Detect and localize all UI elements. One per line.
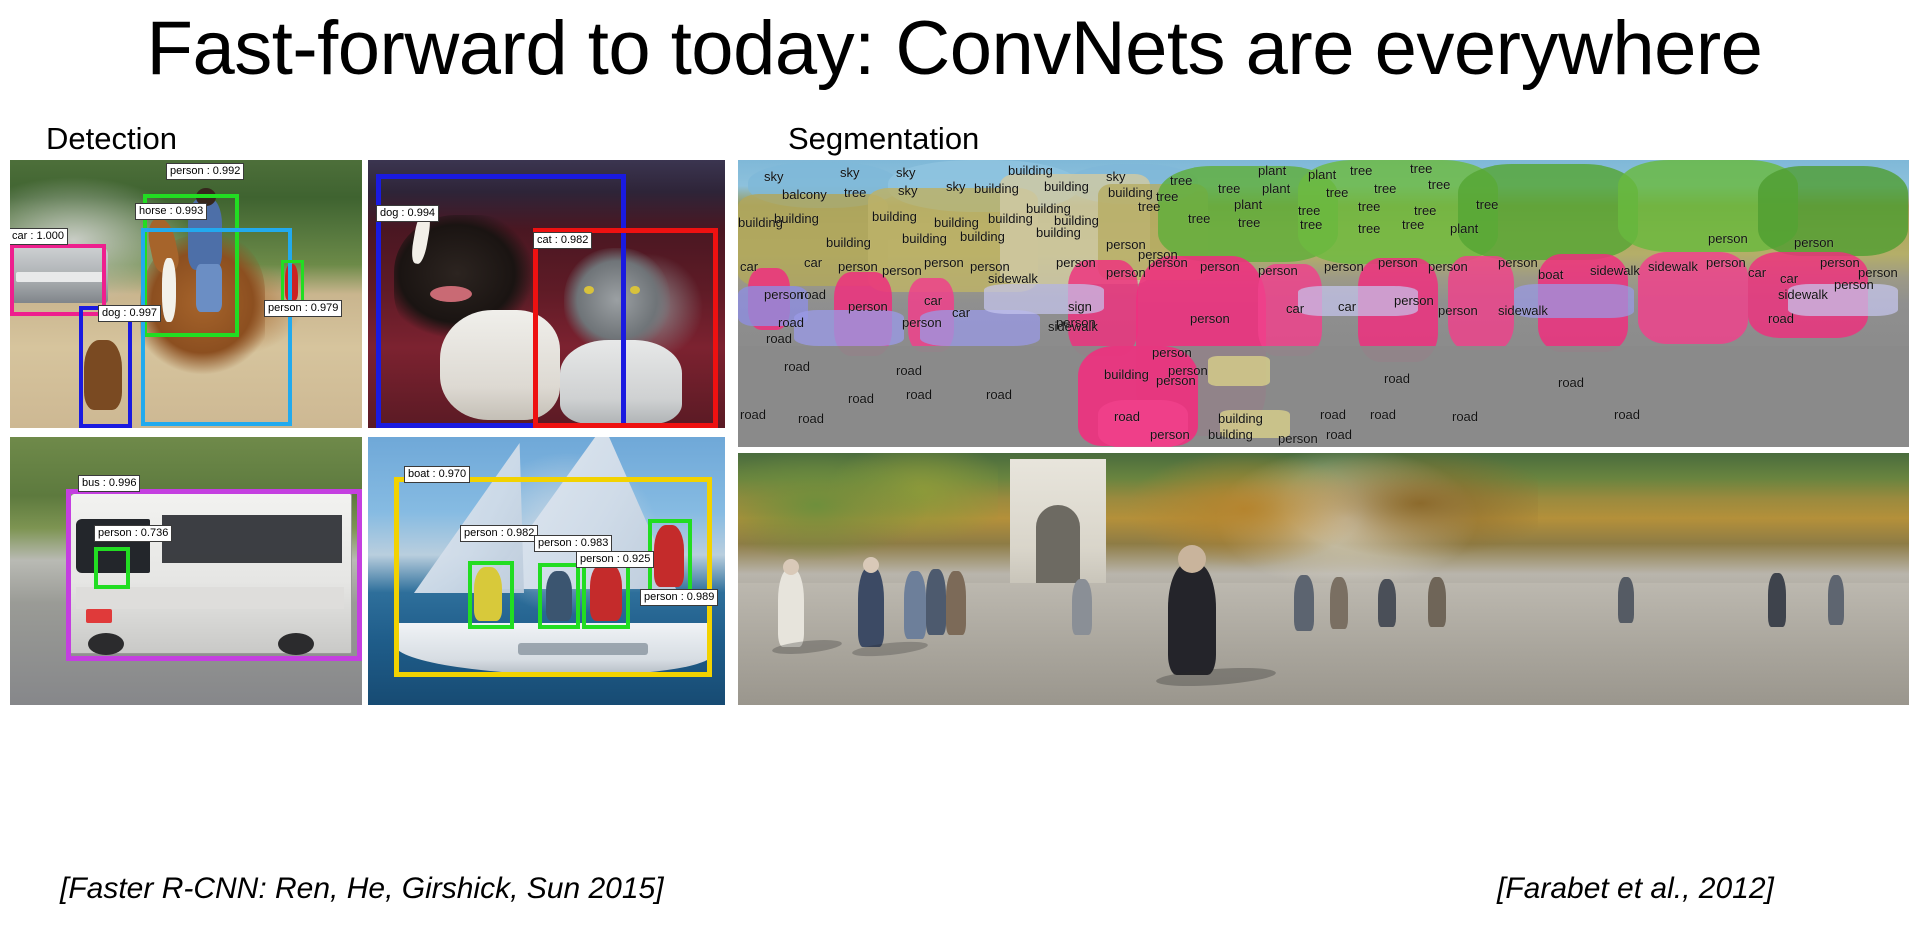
seg-label: tree [1300, 218, 1322, 231]
seg-label: plant [1262, 182, 1290, 195]
seg-label: person [848, 300, 888, 313]
seg-label: person [1150, 428, 1190, 441]
seg-label: tree [1350, 164, 1372, 177]
seg-label: building [974, 182, 1019, 195]
scene-person [904, 571, 926, 639]
scene-person [1330, 577, 1348, 629]
seg-label: tree [1298, 204, 1320, 217]
detection-tag-person-983: person : 0.983 [534, 535, 612, 552]
scene-person [1618, 577, 1634, 623]
seg-label: road [896, 364, 922, 377]
seg-label: building [1008, 164, 1053, 177]
seg-label: person [1190, 312, 1230, 325]
seg-label: road [1452, 410, 1478, 423]
seg-label: person [1708, 232, 1748, 245]
detection-tag-cat-982: cat : 0.982 [533, 232, 592, 249]
seg-label: person [1820, 256, 1860, 269]
seg-label: person [902, 316, 942, 329]
scene-person-head [783, 559, 799, 575]
scene-person-foreground [1168, 563, 1216, 675]
seg-label: road [986, 388, 1012, 401]
seg-label: person [1106, 266, 1146, 279]
detection-image-dog-cat[interactable]: dog : 0.994 cat : 0.982 [368, 160, 725, 428]
seg-label: building [934, 216, 979, 229]
scene-person [946, 571, 966, 635]
seg-label: balcony [782, 188, 827, 201]
seg-label: person [1794, 236, 1834, 249]
seg-label: person [1428, 260, 1468, 273]
seg-label: person [1278, 432, 1318, 445]
seg-label: sky [896, 166, 916, 179]
seg-label: car [924, 294, 942, 307]
seg-label: plant [1234, 198, 1262, 211]
detection-image-bus[interactable]: bus : 0.996 person : 0.736 [10, 437, 362, 705]
seg-label: building [1218, 412, 1263, 425]
detection-image-horse-rider[interactable]: car : 1.000 person : 0.992 horse : 0.993… [10, 160, 362, 428]
segmentation-image-park-photo[interactable] [738, 453, 1909, 705]
seg-label: person [1438, 304, 1478, 317]
scene-person [1072, 579, 1092, 635]
section-label-segmentation: Segmentation [788, 122, 979, 156]
seg-label: road [906, 388, 932, 401]
scene-person [926, 569, 946, 635]
seg-label: building [1036, 226, 1081, 239]
seg-label: road [740, 408, 766, 421]
seg-label: tree [1402, 218, 1424, 231]
detection-tag-dog: dog : 0.997 [98, 305, 161, 322]
seg-label: car [1286, 302, 1304, 315]
seg-label: sidewalk [1648, 260, 1698, 273]
seg-label: person [1152, 346, 1192, 359]
seg-label: sidewalk [1590, 264, 1640, 277]
seg-label: road [1114, 410, 1140, 423]
scene-person-head [863, 557, 879, 573]
seg-label: sky [946, 180, 966, 193]
seg-label: tree [1170, 174, 1192, 187]
seg-label: road [784, 360, 810, 373]
section-label-detection: Detection [46, 122, 177, 156]
seg-label: road [800, 288, 826, 301]
seg-label: person [1200, 260, 1240, 273]
seg-label: person [1324, 260, 1364, 273]
scene-person [1378, 579, 1396, 627]
seg-label: tree [844, 186, 866, 199]
seg-label: person [1394, 294, 1434, 307]
detection-tag-person-982: person : 0.982 [460, 525, 538, 542]
seg-label: road [798, 412, 824, 425]
detection-tag-person-992: person : 0.992 [166, 163, 244, 180]
seg-label: sidewalk [988, 272, 1038, 285]
detection-image-grid: car : 1.000 person : 0.992 horse : 0.993… [10, 160, 725, 705]
seg-label: car [740, 260, 758, 273]
seg-label: car [1338, 300, 1356, 313]
seg-label: tree [1358, 200, 1380, 213]
seg-label: tree [1138, 200, 1160, 213]
scene-person [858, 567, 884, 647]
seg-label: car [1780, 272, 1798, 285]
scene-person [778, 569, 804, 647]
seg-label: person [838, 260, 878, 273]
bbox-cat-982[interactable] [533, 228, 718, 428]
seg-label: road [1614, 408, 1640, 421]
seg-label: person [1834, 278, 1874, 291]
seg-label: road [1768, 312, 1794, 325]
seg-label: sky [1106, 170, 1126, 183]
seg-label: building [774, 212, 819, 225]
seg-label: sidewalk [1778, 288, 1828, 301]
seg-label: building [826, 236, 871, 249]
seg-label: person [1148, 256, 1188, 269]
scene-person-head [1178, 545, 1206, 573]
seg-label: road [848, 392, 874, 405]
seg-label: person [1156, 374, 1196, 387]
scene-arch-opening [1036, 505, 1080, 587]
detection-tag-car: car : 1.000 [10, 228, 68, 245]
scene-person [1428, 577, 1446, 627]
caption-detection: [Faster R-CNN: Ren, He, Girshick, Sun 20… [60, 872, 664, 906]
detection-tag-person-989: person : 0.989 [640, 589, 718, 606]
scene-person [1828, 575, 1844, 625]
seg-label: car [1748, 266, 1766, 279]
seg-label: road [778, 316, 804, 329]
seg-label: road [1370, 408, 1396, 421]
bbox-horse[interactable] [141, 228, 292, 426]
seg-label: person [1258, 264, 1298, 277]
seg-label: sky [840, 166, 860, 179]
seg-label: car [952, 306, 970, 319]
seg-label: person [1498, 256, 1538, 269]
bbox-person-983[interactable] [538, 563, 580, 629]
seg-label: tree [1414, 204, 1436, 217]
seg-label: building [1208, 428, 1253, 441]
seg-region-building [1208, 356, 1270, 386]
detection-tag-horse: horse : 0.993 [135, 203, 207, 220]
seg-label: building [960, 230, 1005, 243]
seg-label: person [1056, 256, 1096, 269]
seg-label: tree [1428, 178, 1450, 191]
detection-tag-bus-996: bus : 0.996 [78, 475, 140, 492]
seg-label: building [1044, 180, 1089, 193]
seg-label: tree [1374, 182, 1396, 195]
segmentation-image-street[interactable]: sky sky sky sky building sky tree plant … [738, 160, 1909, 447]
seg-label: tree [1410, 162, 1432, 175]
seg-label: road [1558, 376, 1584, 389]
scene-person [1294, 575, 1314, 631]
seg-label: person [764, 288, 804, 301]
seg-label: plant [1308, 168, 1336, 181]
bbox-dog[interactable] [79, 306, 132, 428]
detection-tag-dog-994: dog : 0.994 [376, 205, 439, 222]
seg-label: tree [1358, 222, 1380, 235]
seg-label: sign [1068, 300, 1092, 313]
seg-label: tree [1188, 212, 1210, 225]
detection-tag-person-736: person : 0.736 [94, 525, 172, 542]
seg-label: person [924, 256, 964, 269]
seg-label: sidewalk [1048, 320, 1098, 333]
page-title: Fast-forward to today: ConvNets are ever… [0, 6, 1909, 92]
bbox-person-982[interactable] [468, 561, 514, 629]
seg-label: plant [1450, 222, 1478, 235]
detection-image-sailboat[interactable]: boat : 0.970 person : 0.982 person : 0.9… [368, 437, 725, 705]
seg-label: building [872, 210, 917, 223]
seg-label: plant [1258, 164, 1286, 177]
detection-tag-boat-970: boat : 0.970 [404, 466, 470, 483]
seg-region-car [794, 310, 904, 346]
seg-label: person [1378, 256, 1418, 269]
scene-person [1768, 573, 1786, 627]
seg-label: tree [1238, 216, 1260, 229]
segmentation-image-grid: sky sky sky sky building sky tree plant … [738, 160, 1909, 705]
seg-label: tree [1326, 186, 1348, 199]
seg-label: sky [764, 170, 784, 183]
seg-region-tree [1458, 164, 1638, 260]
seg-label: building [1108, 186, 1153, 199]
seg-label: sidewalk [1498, 304, 1548, 317]
bbox-person-989[interactable] [648, 519, 692, 593]
seg-label: person [1706, 256, 1746, 269]
detection-tag-person-925: person : 0.925 [576, 551, 654, 568]
seg-label: building [902, 232, 947, 245]
seg-label: sky [898, 184, 918, 197]
seg-label: road [1326, 428, 1352, 441]
seg-label: road [766, 332, 792, 345]
bbox-person-736[interactable] [94, 547, 130, 589]
seg-label: road [1384, 372, 1410, 385]
seg-label: car [804, 256, 822, 269]
seg-label: boat [1538, 268, 1563, 281]
detection-tag-person-979: person : 0.979 [264, 300, 342, 317]
caption-segmentation: [Farabet et al., 2012] [1497, 872, 1774, 906]
seg-label: tree [1476, 198, 1498, 211]
seg-label: building [1104, 368, 1149, 381]
seg-label: person [882, 264, 922, 277]
seg-label: road [1320, 408, 1346, 421]
seg-label: tree [1218, 182, 1240, 195]
